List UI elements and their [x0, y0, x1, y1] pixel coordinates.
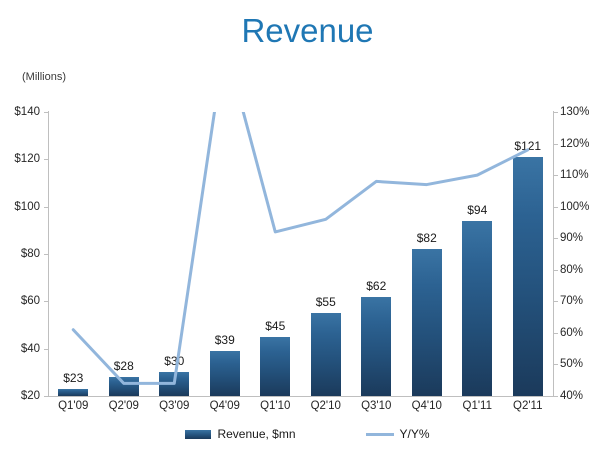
left-axis-label: $40 — [0, 343, 40, 355]
category-label-q409: Q4'09 — [210, 400, 240, 412]
left-axis-tick — [44, 112, 48, 113]
bar-value-label: $39 — [215, 333, 235, 347]
chart-title: Revenue — [0, 12, 615, 50]
bar-value-label: $30 — [164, 354, 184, 368]
bar-value-label: $28 — [114, 359, 134, 373]
left-axis-label: $80 — [0, 248, 40, 260]
right-axis-tick — [554, 396, 558, 397]
left-axis-tick — [44, 396, 48, 397]
right-axis-tick — [554, 364, 558, 365]
bar-q111 — [462, 221, 492, 396]
left-axis-tick — [44, 349, 48, 350]
chart-legend: Revenue, $mn Y/Y% — [0, 427, 615, 441]
right-axis-label: 40% — [560, 390, 608, 402]
bar-q210 — [311, 313, 341, 396]
left-axis-tick — [44, 301, 48, 302]
left-axis-label: $20 — [0, 390, 40, 402]
category-label-q111: Q1'11 — [463, 400, 492, 412]
bar-q409 — [210, 351, 240, 396]
bar-q410 — [412, 249, 442, 396]
right-axis-tick — [554, 333, 558, 334]
right-axis-label: 90% — [560, 232, 608, 244]
right-axis-label: 120% — [560, 138, 608, 150]
category-axis-line — [48, 396, 554, 397]
left-axis-label: $140 — [0, 106, 40, 118]
category-label-q109: Q1'09 — [58, 400, 88, 412]
right-axis-tick — [554, 144, 558, 145]
category-label-q209: Q2'09 — [109, 400, 139, 412]
legend-entry-revenue: Revenue, $mn — [185, 427, 295, 441]
bar-value-label: $94 — [467, 203, 487, 217]
units-caption: (Millions) — [22, 71, 66, 83]
bar-value-label: $55 — [316, 295, 336, 309]
left-axis-line — [48, 111, 49, 397]
left-axis-tick — [44, 207, 48, 208]
revenue-chart: Revenue (Millions) $20$40$60$80$100$120$… — [0, 0, 615, 451]
category-label-q210: Q2'10 — [311, 400, 341, 412]
right-axis-label: 80% — [560, 264, 608, 276]
bar-q211 — [513, 157, 543, 396]
yoy-polyline — [73, 112, 528, 383]
category-label-q110: Q1'10 — [260, 400, 290, 412]
right-axis-label: 130% — [560, 106, 608, 118]
bar-q309 — [159, 372, 189, 396]
right-axis-tick — [554, 301, 558, 302]
legend-label-yoy: Y/Y% — [400, 427, 430, 441]
legend-entry-yoy: Y/Y% — [366, 427, 430, 441]
bar-q310 — [361, 297, 391, 396]
category-label-q211: Q2'11 — [513, 400, 542, 412]
left-axis-label: $100 — [0, 201, 40, 213]
right-axis-label: 110% — [560, 169, 608, 181]
legend-label-revenue: Revenue, $mn — [217, 427, 295, 441]
bar-swatch-icon — [185, 430, 211, 439]
category-label-q309: Q3'09 — [159, 400, 189, 412]
left-axis-label: $120 — [0, 153, 40, 165]
bar-q209 — [109, 377, 139, 396]
right-axis-line — [553, 111, 554, 397]
right-axis-tick — [554, 112, 558, 113]
bar-value-label: $45 — [265, 319, 285, 333]
bar-q110 — [260, 337, 290, 396]
right-axis-tick — [554, 270, 558, 271]
category-label-q410: Q4'10 — [412, 400, 442, 412]
bar-value-label: $121 — [514, 139, 541, 153]
right-axis-label: 60% — [560, 327, 608, 339]
bar-value-label: $62 — [366, 279, 386, 293]
line-swatch-icon — [366, 433, 394, 436]
right-axis-tick — [554, 207, 558, 208]
right-axis-label: 100% — [560, 201, 608, 213]
category-label-q310: Q3'10 — [361, 400, 391, 412]
bar-value-label: $23 — [63, 371, 83, 385]
left-axis-tick — [44, 159, 48, 160]
right-axis-tick — [554, 175, 558, 176]
right-axis-tick — [554, 238, 558, 239]
bar-value-label: $82 — [417, 231, 437, 245]
right-axis-label: 70% — [560, 295, 608, 307]
left-axis-label: $60 — [0, 295, 40, 307]
bar-q109 — [58, 389, 88, 396]
right-axis-label: 50% — [560, 358, 608, 370]
left-axis-tick — [44, 254, 48, 255]
